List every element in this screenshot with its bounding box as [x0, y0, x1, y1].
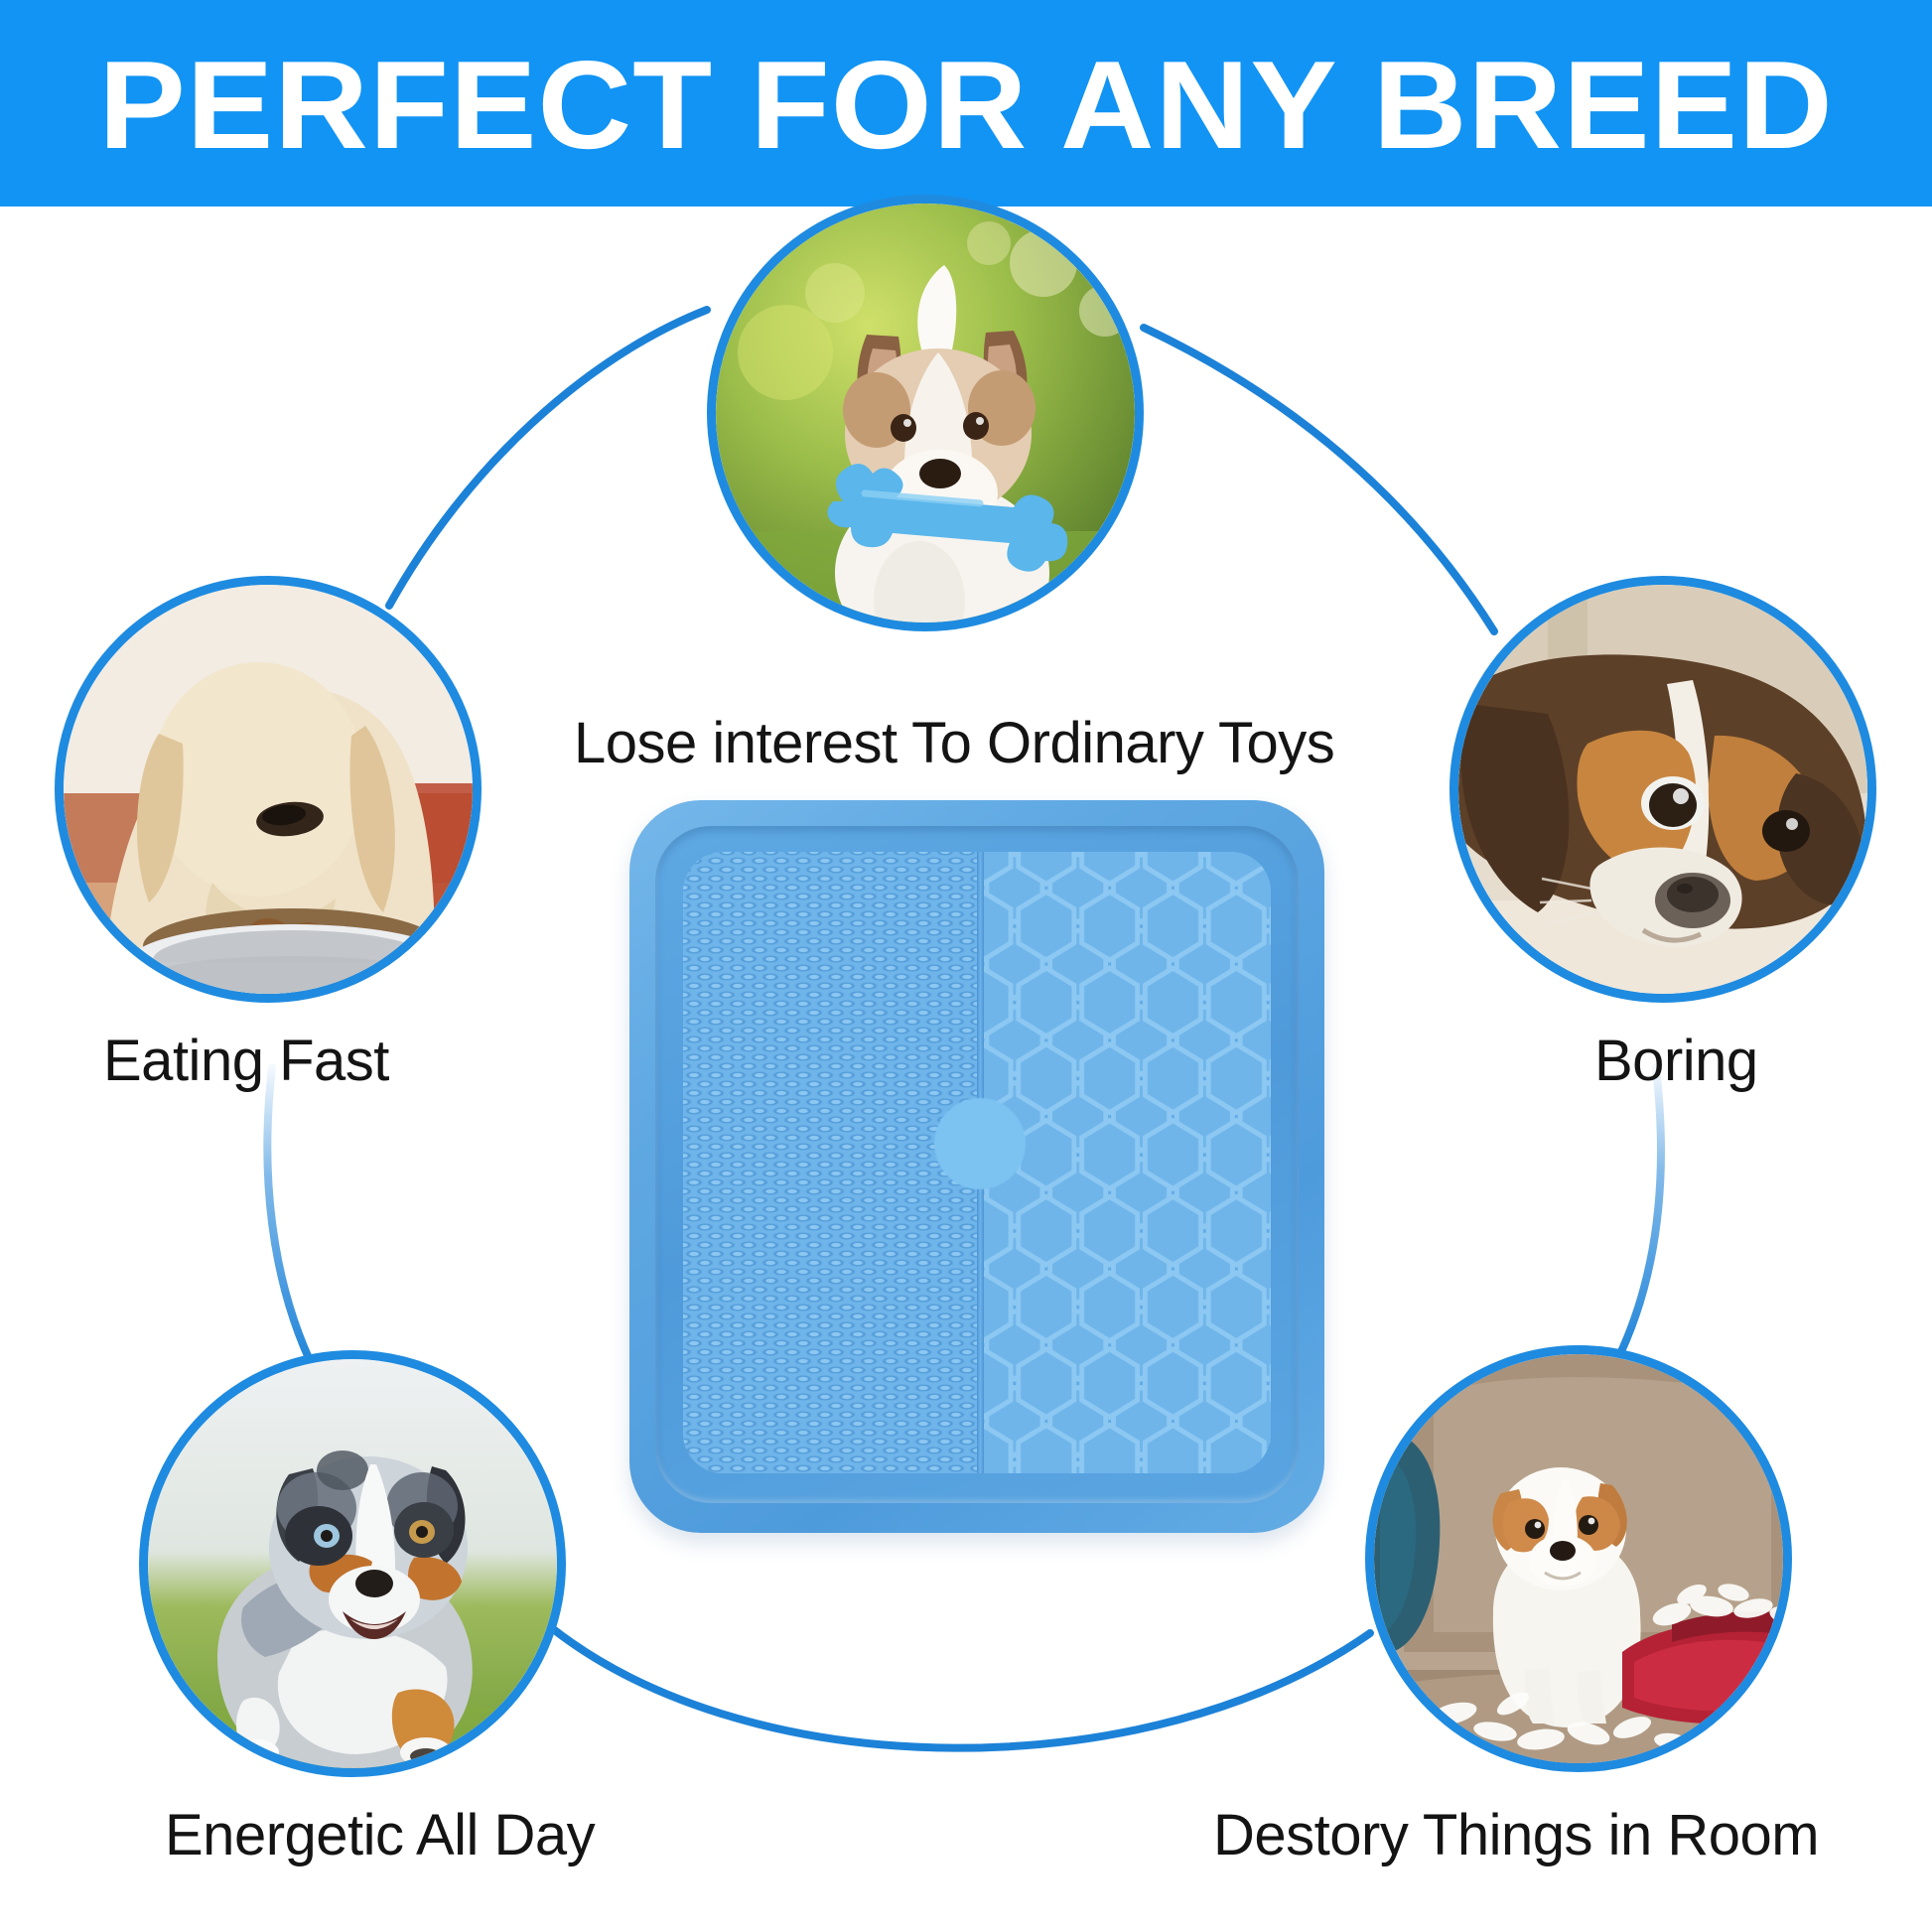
infographic-page: PERFECT FOR ANY BREED	[0, 0, 1932, 1932]
mat-center-hub	[934, 1098, 1026, 1189]
photo-australian-shepherd-running	[148, 1359, 557, 1768]
connector-energetic-to-destroy	[552, 1628, 1370, 1748]
feature-photo-destroy-things[interactable]	[1365, 1345, 1792, 1772]
feature-label-destroy-things: Destory Things in Room	[1213, 1802, 1819, 1868]
feature-label-energetic: Energetic All Day	[165, 1802, 595, 1868]
photo-terrier-with-shredded-pillow	[1374, 1354, 1783, 1763]
feature-photo-boring[interactable]	[1449, 576, 1876, 1003]
connector-eatingfast-to-toys	[389, 310, 707, 606]
feature-photo-eating-fast[interactable]	[55, 576, 482, 1003]
connector-eatingfast-to-energetic	[267, 1067, 316, 1373]
header-banner: PERFECT FOR ANY BREED	[0, 0, 1932, 207]
page-title: PERFECT FOR ANY BREED	[98, 43, 1833, 168]
mat-surface	[683, 852, 1271, 1473]
photo-labrador-eating-from-bowl	[64, 585, 473, 994]
feature-photo-energetic[interactable]	[139, 1350, 566, 1777]
feature-label-eating-fast: Eating Fast	[103, 1028, 389, 1094]
feature-label-lose-interest: Lose interest To Ordinary Toys	[574, 710, 1334, 776]
mat-honeycomb-texture-right	[983, 852, 1271, 1473]
product-lick-mat[interactable]	[629, 800, 1324, 1533]
connector-boring-to-destroy	[1614, 1067, 1661, 1366]
feature-label-boring: Boring	[1594, 1028, 1758, 1094]
photo-bored-beagle-lying-down	[1458, 585, 1867, 994]
photo-jack-russell-with-blue-bone-toy	[716, 204, 1135, 622]
feature-photo-lose-interest[interactable]	[707, 195, 1144, 631]
connector-toys-to-boring	[1144, 328, 1494, 631]
